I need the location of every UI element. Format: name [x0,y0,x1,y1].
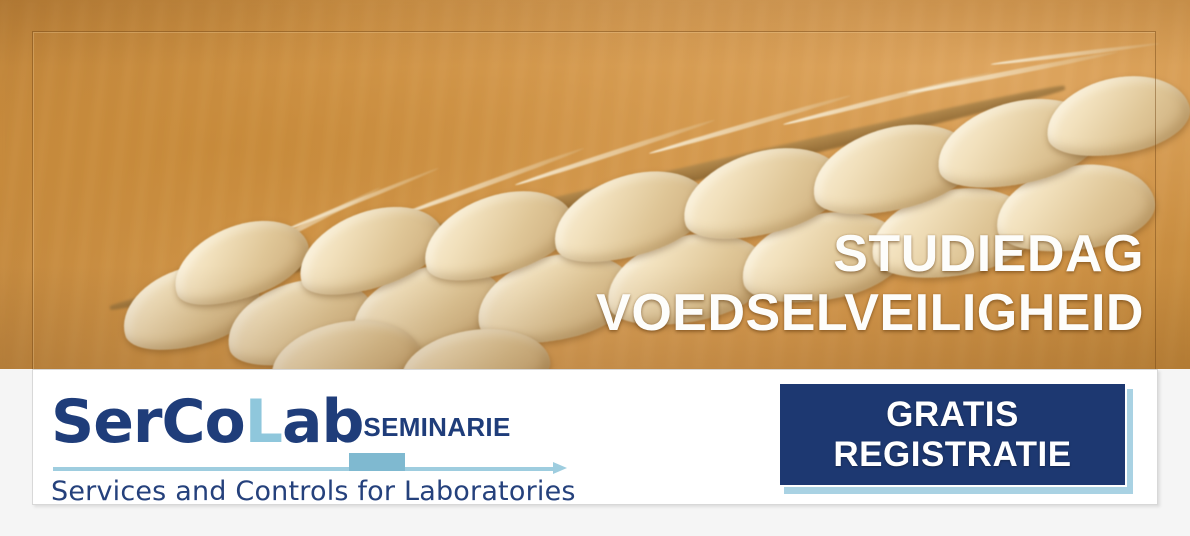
headline-line-1: STUDIEDAG [596,228,1144,281]
page-title: STUDIEDAG VOEDSELVEILIGHEID [596,228,1144,340]
footer-panel: SerCoLabSEMINARIE Services and Controls … [32,369,1158,505]
sercolab-logo[interactable]: SerCoLabSEMINARIE Services and Controls … [51,392,591,500]
arrow-right-icon [553,462,567,474]
footer-bar: SerCoLabSEMINARIE Services and Controls … [0,369,1190,536]
hero-photo: STUDIEDAG VOEDSELVEILIGHEID [0,0,1190,369]
logo-tagline: Services and Controls for Laboratories [51,476,576,507]
logo-rule-segment-right [405,467,557,471]
logo-suffix-seminarie: SEMINARIE [363,412,510,442]
gratis-registratie-button[interactable]: GRATIS REGISTRATIE [778,382,1127,487]
cta-line-1: GRATIS [886,395,1019,435]
cta-line-2: REGISTRATIE [833,435,1071,475]
logo-wordmark: SerCoLabSEMINARIE [51,392,591,452]
logo-word-part2: ab [282,387,363,457]
logo-word-part-l: L [245,387,282,457]
seminar-banner: STUDIEDAG VOEDSELVEILIGHEID SerCoLabSEMI… [0,0,1190,536]
logo-arrow-rule [53,465,569,472]
logo-rule-tick [349,453,405,471]
logo-word-part1: SerCo [51,387,245,457]
logo-rule-segment-left [53,467,349,471]
cta-container: GRATIS REGISTRATIE [778,382,1133,494]
headline-line-2: VOEDSELVEILIGHEID [596,287,1144,340]
